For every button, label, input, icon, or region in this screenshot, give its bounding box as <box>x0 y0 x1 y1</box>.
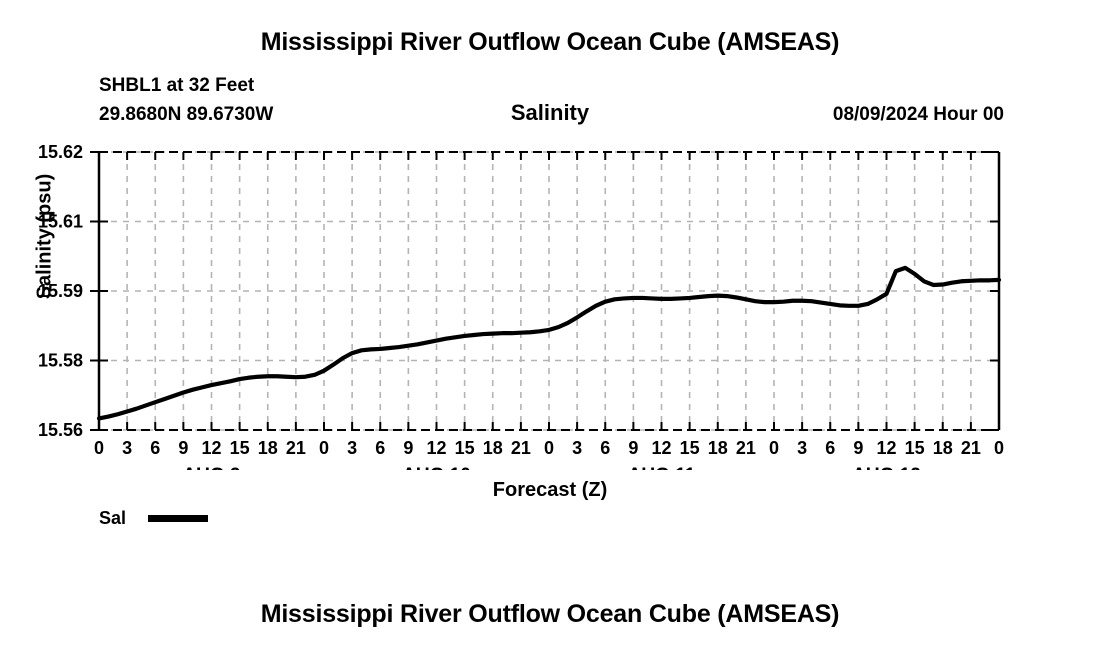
svg-text:0: 0 <box>94 438 104 458</box>
svg-text:0: 0 <box>994 438 1004 458</box>
chart-page: Mississippi River Outflow Ocean Cube (AM… <box>0 0 1100 650</box>
x-axis-tick-labels: 0369121518210369121518210369121518210369… <box>94 438 1004 458</box>
svg-text:18: 18 <box>483 438 503 458</box>
svg-text:0: 0 <box>769 438 779 458</box>
chart-legend: Sal <box>99 508 208 529</box>
svg-text:21: 21 <box>736 438 756 458</box>
svg-text:6: 6 <box>375 438 385 458</box>
svg-text:15: 15 <box>455 438 475 458</box>
svg-text:AUG 11: AUG 11 <box>628 465 696 470</box>
svg-text:12: 12 <box>426 438 446 458</box>
svg-text:9: 9 <box>628 438 638 458</box>
svg-text:3: 3 <box>572 438 582 458</box>
svg-text:15: 15 <box>905 438 925 458</box>
svg-text:15.56: 15.56 <box>38 420 83 440</box>
x-axis-title: Forecast (Z) <box>0 479 1100 502</box>
svg-text:15: 15 <box>230 438 250 458</box>
grid-lines <box>99 152 999 430</box>
svg-text:9: 9 <box>178 438 188 458</box>
svg-text:3: 3 <box>797 438 807 458</box>
svg-text:12: 12 <box>876 438 896 458</box>
svg-text:6: 6 <box>150 438 160 458</box>
svg-text:18: 18 <box>708 438 728 458</box>
y-axis-title: Salinity (psu) <box>34 137 57 337</box>
svg-text:3: 3 <box>347 438 357 458</box>
svg-text:AUG 9: AUG 9 <box>182 465 240 470</box>
svg-text:9: 9 <box>403 438 413 458</box>
svg-text:15.58: 15.58 <box>38 351 83 371</box>
legend-swatch-sal <box>148 515 208 522</box>
svg-text:AUG 12: AUG 12 <box>852 465 921 470</box>
page-title-bottom: Mississippi River Outflow Ocean Cube (AM… <box>0 600 1100 629</box>
svg-text:AUG 10: AUG 10 <box>402 465 471 470</box>
svg-text:3: 3 <box>122 438 132 458</box>
svg-text:21: 21 <box>961 438 981 458</box>
legend-label-sal: Sal <box>99 508 126 529</box>
svg-text:21: 21 <box>511 438 531 458</box>
x-axis-day-labels: AUG 9AUG 10AUG 11AUG 12 <box>182 465 920 470</box>
svg-text:0: 0 <box>544 438 554 458</box>
svg-text:18: 18 <box>258 438 278 458</box>
svg-text:12: 12 <box>201 438 221 458</box>
svg-text:21: 21 <box>286 438 306 458</box>
svg-text:12: 12 <box>651 438 671 458</box>
svg-text:18: 18 <box>933 438 953 458</box>
svg-text:6: 6 <box>600 438 610 458</box>
svg-text:0: 0 <box>319 438 329 458</box>
svg-text:15: 15 <box>680 438 700 458</box>
svg-text:9: 9 <box>853 438 863 458</box>
svg-text:6: 6 <box>825 438 835 458</box>
salinity-line-chart: 15.5615.5815.5915.6115.62 03691215182103… <box>0 0 1100 470</box>
